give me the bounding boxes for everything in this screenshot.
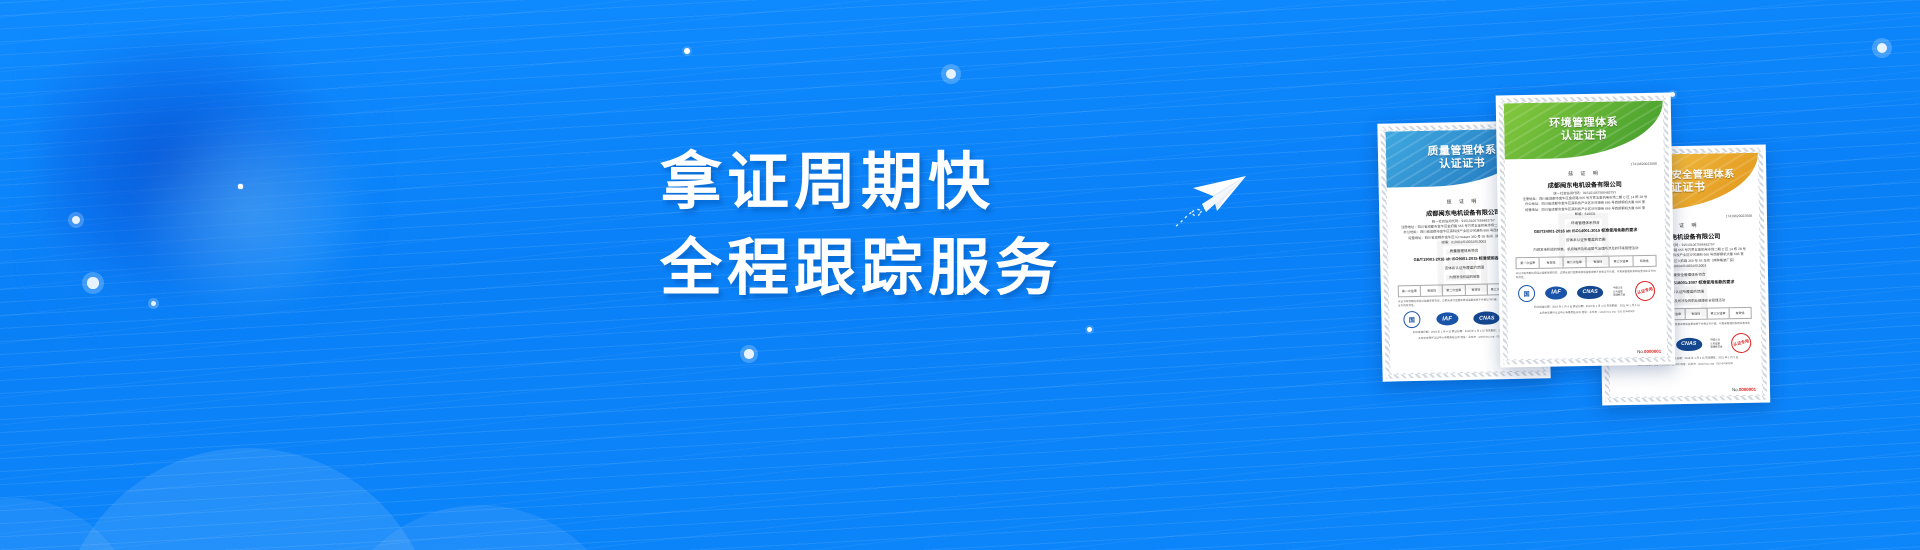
headline-line-1: 拿证周期快 bbox=[660, 140, 1062, 226]
certificate-title-line2: 认证证书 bbox=[1439, 158, 1485, 172]
certificate-number: No.0000001 bbox=[1637, 349, 1661, 354]
certificate-company: 成都闽东电机设备有限公司 bbox=[1512, 179, 1657, 191]
red-stamp-icon: 认证专用 bbox=[1633, 279, 1657, 303]
cnca-seal-icon: 国 bbox=[1518, 285, 1535, 302]
dot-mid-left bbox=[68, 212, 84, 228]
table-cell: 有效性 bbox=[1633, 256, 1655, 266]
table-cell: 第一次监审 bbox=[1399, 286, 1421, 296]
certificate-logos: 国 IAF CNAS 中国认证认可监督管理委员会 认证专用 bbox=[1514, 281, 1659, 304]
table-cell: 第二次监审 bbox=[1563, 257, 1586, 267]
certificate-number-value: 0000001 bbox=[1739, 387, 1756, 392]
table-cell: 有效性 bbox=[1421, 285, 1443, 295]
dot-bottom-left bbox=[148, 298, 159, 309]
cnas-icon: CNAS bbox=[1676, 337, 1702, 350]
certificate-group: 质量管理体系 认证证书 国 17419620022608 兹 证 明 成都闽东电… bbox=[1380, 80, 1920, 480]
table-cell: 第三次监审 bbox=[1707, 308, 1729, 318]
certificate-note: 本证书有效期内须经过监督审核有效，过期未进行监督审核或监督审核不合格证书作废。可… bbox=[1516, 270, 1657, 280]
accreditation-text: 中国认证认可监督管理委员会 bbox=[1613, 287, 1625, 297]
table-cell: 有效性 bbox=[1685, 309, 1707, 319]
certificate-scope: 内燃发电机组的销售、机房噪声及机组尾气治理所涉及的环境管理活动 bbox=[1513, 245, 1658, 253]
dot-small-left bbox=[237, 183, 244, 190]
table-cell: 第一次监审 bbox=[1516, 258, 1539, 268]
table-cell: 有效性 bbox=[1540, 257, 1563, 267]
table-cell: 有效性 bbox=[1465, 285, 1487, 295]
certificate-header: 环境管理体系 认证证书 bbox=[1504, 101, 1664, 160]
cnas-icon: CNAS bbox=[1474, 311, 1500, 325]
table-cell: 第三次监审 bbox=[1610, 256, 1633, 266]
certificate-audit-table: 第一次监审 有效性 第二次监审 有效性 第三次监审 有效性 bbox=[1515, 255, 1656, 269]
certificate-footer-2: 北京中安质环认证中心有限责任公司 地址：北京市 · www.hxcc.org ·… bbox=[1514, 310, 1659, 316]
iaf-icon: IAF bbox=[1545, 286, 1567, 299]
certificate-title-line2: 认证证书 bbox=[1561, 130, 1607, 144]
dot-low-left bbox=[82, 272, 104, 294]
certificate-environment[interactable]: 环境管理体系 认证证书 国 17419620022608 兹 证 明 成都闽东电… bbox=[1496, 92, 1676, 367]
light-glow-blob bbox=[135, 110, 365, 310]
certificate-standard: GB/T24001-2016 idt ISO14001:2015 标准使用条款的… bbox=[1513, 227, 1658, 236]
certificate-serial: 17419620022608 bbox=[1512, 162, 1657, 169]
dot-top-center bbox=[682, 46, 692, 56]
headline-block: 拿证周期快 全程跟踪服务 bbox=[660, 140, 1062, 312]
certificate-inner: 环境管理体系 认证证书 国 17419620022608 兹 证 明 成都闽东电… bbox=[1504, 101, 1667, 360]
promo-banner: 拿证周期快 全程跟踪服务 质量管理体系 认证证书 国 1741962002260… bbox=[0, 0, 1920, 550]
certificate-number: No.0000001 bbox=[1732, 387, 1756, 392]
dot-lower-center bbox=[1085, 325, 1094, 334]
certificate-title-line1: 环境管理体系 bbox=[1549, 116, 1618, 130]
accreditation-text: 中国认证认可监督管理委员会 bbox=[1710, 339, 1722, 349]
iaf-icon: IAF bbox=[1436, 312, 1458, 325]
certificate-title-line1: 质量管理体系 bbox=[1427, 144, 1496, 158]
dot-bottom-center bbox=[740, 345, 758, 363]
dot-far-right bbox=[1872, 38, 1892, 58]
red-stamp-icon: 认证专用 bbox=[1729, 331, 1753, 355]
table-cell: 有效性 bbox=[1586, 257, 1609, 267]
certificate-number-value: 0000001 bbox=[1644, 349, 1661, 354]
paper-plane-icon bbox=[1160, 160, 1250, 230]
certificate-proof-label: 兹 证 明 bbox=[1512, 169, 1657, 179]
headline-line-2: 全程跟踪服务 bbox=[660, 226, 1062, 312]
certificate-body: 国 17419620022608 兹 证 明 成都闽东电机设备有限公司 统一社会… bbox=[1505, 157, 1667, 320]
cnas-icon: CNAS bbox=[1577, 285, 1603, 298]
table-cell: 第二次监审 bbox=[1443, 285, 1465, 295]
table-cell: 有效性 bbox=[1729, 308, 1750, 318]
certificate-scope-label: 该体系认证所覆盖的范围 bbox=[1513, 237, 1658, 245]
cnca-seal-icon: 国 bbox=[1403, 311, 1420, 328]
dot-upper-center bbox=[941, 64, 961, 84]
